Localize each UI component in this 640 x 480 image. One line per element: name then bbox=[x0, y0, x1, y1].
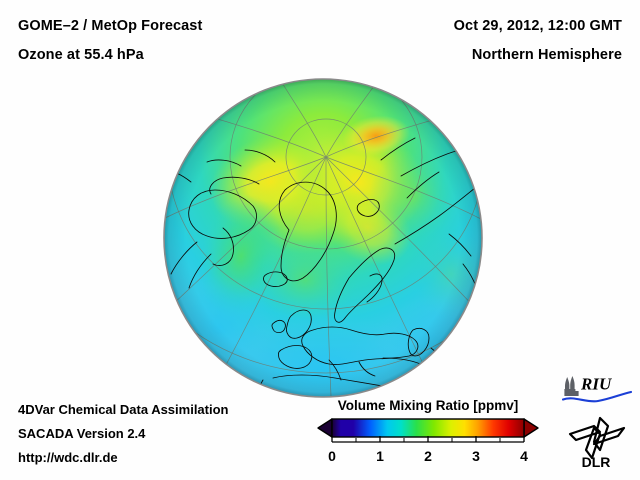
colorbar-tick-4: 4 bbox=[520, 448, 528, 464]
colorbar-tick-3: 3 bbox=[472, 448, 480, 464]
ozone-forecast-figure: GOME–2 / MetOp Forecast Ozone at 55.4 hP… bbox=[0, 0, 640, 480]
riu-wordmark: RIU bbox=[580, 375, 612, 394]
dlr-logo: DLR bbox=[564, 412, 630, 470]
colorbar-tick-labels: 0 1 2 3 4 bbox=[312, 448, 544, 472]
colorbar-tick-2: 2 bbox=[424, 448, 432, 464]
cathedral-icon bbox=[564, 376, 578, 396]
method-label: 4DVar Chemical Data Assimilation bbox=[18, 402, 229, 417]
colorbar-gradient bbox=[312, 418, 544, 448]
region-label: Northern Hemisphere bbox=[472, 47, 622, 63]
timestamp-label: Oct 29, 2012, 12:00 GMT bbox=[454, 18, 622, 34]
globe-map bbox=[163, 78, 483, 398]
title-quantity: Ozone at 55.4 hPa bbox=[18, 47, 144, 63]
title-instrument: GOME–2 / MetOp Forecast bbox=[18, 18, 202, 34]
riu-logo: RIU bbox=[560, 374, 634, 404]
colorbar-tick-1: 1 bbox=[376, 448, 384, 464]
colorbar-title: Volume Mixing Ratio [ppmv] bbox=[312, 398, 544, 413]
url-label[interactable]: http://wdc.dlr.de bbox=[18, 450, 118, 465]
dlr-pinwheel-icon bbox=[570, 418, 624, 458]
colorbar: Volume Mixing Ratio [ppmv] bbox=[312, 398, 544, 476]
dlr-wordmark: DLR bbox=[582, 454, 611, 470]
version-label: SACADA Version 2.4 bbox=[18, 426, 145, 441]
colorbar-tick-0: 0 bbox=[328, 448, 336, 464]
